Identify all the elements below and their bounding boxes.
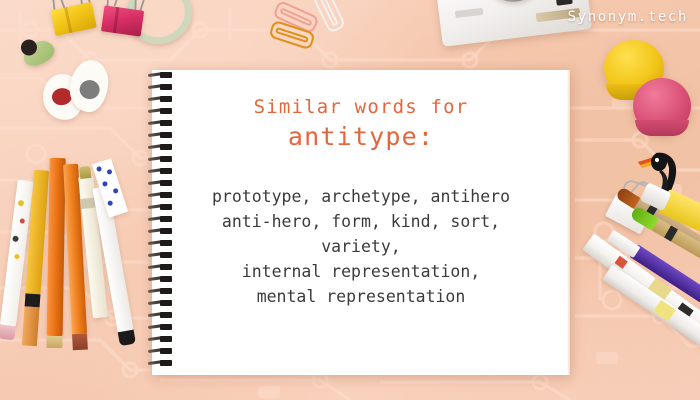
page-title-prefix: Similar words for <box>152 94 570 120</box>
screenshot-root: Similar words for antitype: prototype, a… <box>0 0 700 400</box>
synonym-list: prototype, archetype, antihero anti-hero… <box>152 184 570 309</box>
page-title-word: antitype: <box>152 120 570 154</box>
synonym-line: anti-hero, form, kind, sort, <box>152 209 570 234</box>
binder-clip-pink <box>97 0 149 43</box>
notebook-content: Similar words for antitype: prototype, a… <box>152 94 570 309</box>
synonym-line: internal representation, <box>152 259 570 284</box>
synonym-line: variety, <box>152 234 570 259</box>
notebook-page: Similar words for antitype: prototype, a… <box>152 70 570 375</box>
pencil-orange-1 <box>46 158 65 354</box>
synonym-line: prototype, archetype, antihero <box>152 184 570 209</box>
macaron-pink-foot <box>635 120 689 136</box>
synonym-line: mental representation <box>152 284 570 309</box>
brand-watermark: Synonym.tech <box>568 9 688 25</box>
